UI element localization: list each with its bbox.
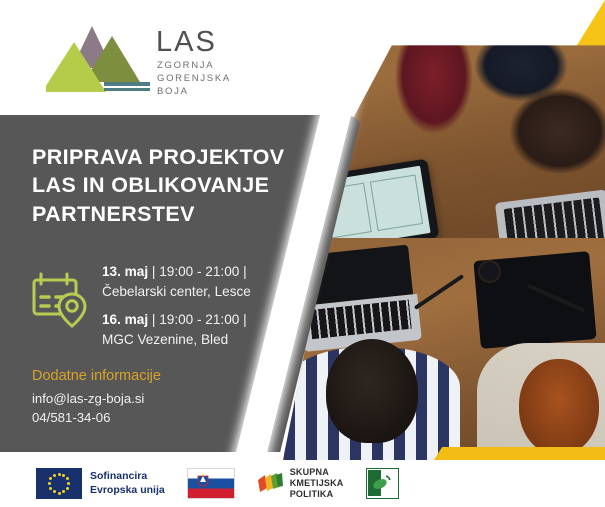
eu-star-icon (58, 492, 61, 495)
eu-cofunding-text: Sofinancira Evropska unija (90, 470, 165, 498)
rural-development-leaf-logo (366, 468, 399, 499)
slovenia-coat-of-arms (197, 473, 209, 488)
logo-subtitle-line2: GORENJSKA (157, 73, 231, 84)
event-details: 13. maj | 19:00 - 21:00 | Čebelarski cen… (30, 262, 305, 350)
logo-subtitle: ZGORNJA GORENJSKA BOJA (157, 60, 231, 98)
event-date: 13. maj (102, 264, 148, 279)
mountains-icon (46, 20, 150, 100)
skp-text: SKUPNA KMETIJSKA POLITIKA (290, 467, 344, 500)
event-item: 16. maj | 19:00 - 21:00 | MGC Vezenine, … (102, 310, 305, 349)
skp-ribbon-icon (257, 471, 284, 496)
person-dark-hair-head (326, 339, 418, 443)
eu-star-icon (49, 487, 52, 490)
logo-wordmark: LAS ZGORNJA GORENJSKA BOJA (156, 28, 231, 98)
contact-email[interactable]: info@las-zg-boja.si (32, 390, 282, 409)
eu-star-icon (62, 474, 65, 477)
poster-headline: PRIPRAVA PROJEKTOV LAS IN OBLIKOVANJE PA… (32, 143, 292, 228)
eu-star-icon (67, 482, 70, 485)
event-time: | 19:00 - 21:00 | (152, 264, 247, 279)
event-time: | 19:00 - 21:00 | (152, 312, 247, 327)
skp-logo: SKUPNA KMETIJSKA POLITIKA (257, 467, 344, 500)
logo-subtitle-line3: BOJA (157, 86, 189, 97)
person-plaid-shirt-image (284, 347, 460, 465)
poster-canvas: LAS ZGORNJA GORENJSKA BOJA PRIPRAVA PROJ… (0, 0, 605, 507)
slovenia-flag-icon (187, 468, 235, 499)
calendar-location-icon (30, 270, 90, 328)
skp-line2: KMETIJSKA (290, 478, 344, 488)
event-item: 13. maj | 19:00 - 21:00 | Čebelarski cen… (102, 262, 305, 301)
contact-info: Dodatne informacije info@las-zg-boja.si … (32, 368, 282, 427)
eu-cofunding-logo: Sofinancira Evropska unija (36, 468, 165, 499)
contact-phone[interactable]: 04/581-34-06 (32, 409, 282, 428)
leaf-icon (367, 469, 397, 497)
person-red-hair-head (519, 359, 599, 455)
event-list: 13. maj | 19:00 - 21:00 | Čebelarski cen… (102, 262, 305, 350)
eu-star-icon (48, 482, 51, 485)
eu-star-icon (53, 490, 56, 493)
eu-star-icon (66, 487, 69, 490)
las-logo: LAS ZGORNJA GORENJSKA BOJA (46, 20, 266, 102)
event-place: MGC Vezenine, Bled (102, 330, 305, 350)
skp-line1: SKUPNA (290, 467, 329, 477)
photo-lower-workspace (282, 238, 605, 465)
eu-text-line1: Sofinancira (90, 470, 147, 482)
stylus-left-image (414, 274, 464, 310)
eu-star-icon (66, 477, 69, 480)
eu-star-icon (62, 490, 65, 493)
event-date: 16. maj (102, 312, 148, 327)
eu-star-icon (58, 473, 61, 476)
logo-title: LAS (156, 28, 231, 57)
contact-title: Dodatne informacije (32, 368, 282, 384)
skp-line3: POLITIKA (290, 489, 334, 499)
footer-logos: Sofinancira Evropska unija SKUPNA KMETIJ… (0, 460, 605, 507)
eu-star-icon (49, 477, 52, 480)
coffee-cup-image (478, 260, 501, 283)
eu-flag-icon (36, 468, 82, 499)
eu-star-icon (53, 474, 56, 477)
event-place: Čebelarski center, Lesce (102, 282, 305, 302)
logo-subtitle-line1: ZGORNJA (157, 60, 214, 71)
person-right-image (477, 343, 605, 465)
eu-text-line2: Evropska unija (90, 484, 165, 496)
